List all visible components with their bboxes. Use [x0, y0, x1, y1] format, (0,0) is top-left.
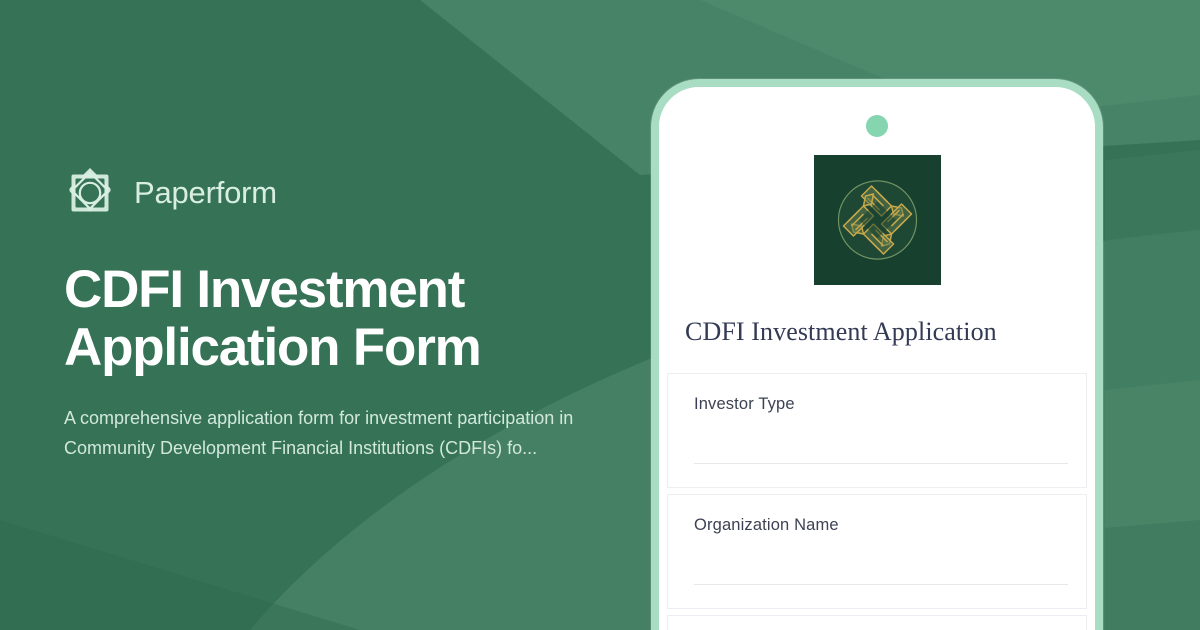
- brand-name: Paperform: [134, 175, 277, 211]
- phone-screen: CDFI Investment Application Investor Typ…: [659, 87, 1095, 630]
- field-label: Organization Name: [694, 516, 1086, 535]
- phone-mockup: CDFI Investment Application Investor Typ…: [651, 79, 1103, 630]
- brand-lockup: Paperform: [64, 167, 644, 219]
- field-input-underline[interactable]: [694, 463, 1068, 464]
- field-input-underline[interactable]: [694, 584, 1068, 585]
- camera-dot-icon: [866, 115, 888, 137]
- background-band-right-2: [1105, 380, 1200, 528]
- form-fields: Investor Type Organization Name First Na…: [659, 373, 1095, 630]
- form-field-organization-name[interactable]: Organization Name: [667, 494, 1087, 609]
- background-band-right-1: [1105, 150, 1200, 390]
- page-title: CDFI Investment Application Form: [64, 261, 584, 377]
- form-field-first-name[interactable]: First Name: [667, 615, 1087, 630]
- background-band-right-3: [1105, 520, 1200, 630]
- form-field-investor-type[interactable]: Investor Type: [667, 373, 1087, 488]
- field-label: Investor Type: [694, 395, 1086, 414]
- four-hands-circle-emblem-icon: [814, 155, 941, 285]
- form-title: CDFI Investment Application: [685, 317, 1095, 347]
- paperform-star-logo-icon: [64, 167, 116, 219]
- hero-panel: Paperform CDFI Investment Application Fo…: [64, 0, 644, 630]
- page-description: A comprehensive application form for inv…: [64, 403, 579, 463]
